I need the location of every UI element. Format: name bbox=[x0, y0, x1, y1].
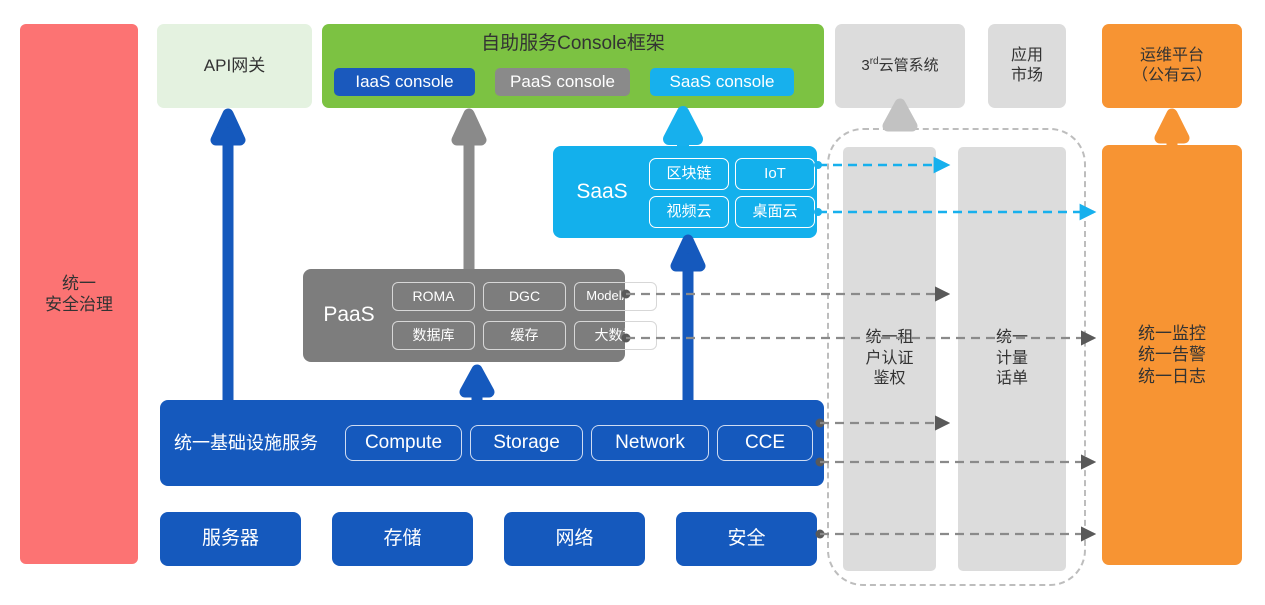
paas-service-modelarts-label: ModelArts bbox=[586, 288, 645, 304]
resource-box-network: 网络 bbox=[504, 512, 645, 566]
unified-metering-label: 统一 计量 话单 bbox=[996, 328, 1028, 390]
saas-layer-block: SaaS 区块链 IoT 视频云 桌面云 bbox=[553, 146, 817, 238]
resource-box-network-label: 网络 bbox=[555, 527, 593, 551]
paas-service-database-label: 数据库 bbox=[413, 327, 455, 345]
saas-service-desktop-cloud[interactable]: 桌面云 bbox=[735, 196, 815, 228]
resource-box-server: 服务器 bbox=[160, 512, 301, 566]
arrow-paas-to-console bbox=[457, 114, 481, 269]
architecture-diagram: 统一 安全治理 API网关 自助服务Console框架 IaaS console… bbox=[0, 0, 1265, 605]
resource-box-security-label: 安全 bbox=[727, 527, 765, 551]
paas-console-chip[interactable]: PaaS console bbox=[495, 68, 630, 96]
self-service-console-framework-block: 自助服务Console框架 IaaS console PaaS console … bbox=[322, 24, 824, 108]
paas-service-bigdata[interactable]: 大数据 bbox=[574, 321, 657, 350]
api-gateway-label: API网关 bbox=[204, 55, 265, 76]
saas-console-label: SaaS console bbox=[670, 71, 775, 92]
unified-tenant-auth-label: 统一租 户认证 鉴权 bbox=[865, 328, 913, 390]
paas-service-dgc-label: DGC bbox=[509, 288, 540, 306]
saas-service-video-cloud-label: 视频云 bbox=[666, 203, 711, 222]
ops-monitoring-stack-label: 统一监控 统一告警 统一日志 bbox=[1138, 323, 1206, 387]
paas-service-modelarts[interactable]: ModelArts bbox=[574, 282, 657, 311]
arrow-saas-to-console bbox=[669, 112, 697, 146]
unified-security-governance-block: 统一 安全治理 bbox=[20, 24, 138, 564]
arrow-infra-to-paas bbox=[465, 370, 489, 400]
paas-console-label: PaaS console bbox=[510, 71, 615, 92]
resource-box-security: 安全 bbox=[676, 512, 817, 566]
paas-service-roma[interactable]: ROMA bbox=[392, 282, 475, 311]
saas-service-iot-label: IoT bbox=[764, 165, 786, 184]
paas-service-roma-label: ROMA bbox=[413, 288, 455, 306]
paas-service-cache[interactable]: 缓存 bbox=[483, 321, 566, 350]
infra-service-storage[interactable]: Storage bbox=[470, 425, 583, 461]
paas-layer-block: PaaS ROMA DGC ModelArts 数据库 缓存 大数据 bbox=[303, 269, 625, 362]
arrow-infra-to-saas bbox=[676, 240, 700, 400]
saas-layer-label: SaaS bbox=[563, 146, 641, 238]
third-party-cloud-management-label: 3rd云管系统 bbox=[861, 56, 938, 76]
paas-layer-label: PaaS bbox=[311, 269, 387, 362]
app-market-block: 应用 市场 bbox=[988, 24, 1066, 108]
app-market-label: 应用 市场 bbox=[1011, 46, 1043, 86]
unified-tenant-auth-bar: 统一租 户认证 鉴权 bbox=[843, 147, 936, 571]
api-gateway-block: API网关 bbox=[157, 24, 312, 108]
saas-service-video-cloud[interactable]: 视频云 bbox=[649, 196, 729, 228]
third-party-superscript: rd bbox=[870, 56, 879, 67]
iaas-console-chip[interactable]: IaaS console bbox=[334, 68, 475, 96]
unified-security-governance-label: 统一 安全治理 bbox=[45, 273, 113, 316]
saas-service-iot[interactable]: IoT bbox=[735, 158, 815, 190]
infra-service-compute-label: Compute bbox=[365, 431, 442, 455]
arrow-infra-to-api-gateway bbox=[216, 114, 240, 400]
unified-metering-bar: 统一 计量 话单 bbox=[958, 147, 1066, 571]
paas-service-dgc[interactable]: DGC bbox=[483, 282, 566, 311]
console-framework-title: 自助服务Console框架 bbox=[322, 32, 824, 56]
third-party-prefix: 3 bbox=[861, 57, 869, 74]
arrow-ops-stack-to-platform bbox=[1160, 114, 1184, 145]
paas-service-database[interactable]: 数据库 bbox=[392, 321, 475, 350]
third-party-suffix: 云管系统 bbox=[879, 57, 939, 74]
resource-box-storage-label: 存储 bbox=[383, 527, 421, 551]
ops-platform-block: 运维平台 （公有云） bbox=[1102, 24, 1242, 108]
saas-service-blockchain[interactable]: 区块链 bbox=[649, 158, 729, 190]
iaas-console-label: IaaS console bbox=[355, 71, 453, 92]
infra-service-network[interactable]: Network bbox=[591, 425, 709, 461]
saas-service-desktop-cloud-label: 桌面云 bbox=[752, 203, 797, 222]
saas-service-blockchain-label: 区块链 bbox=[666, 165, 711, 184]
third-party-cloud-management-block: 3rd云管系统 bbox=[835, 24, 965, 108]
saas-console-chip[interactable]: SaaS console bbox=[650, 68, 794, 96]
paas-service-bigdata-label: 大数据 bbox=[595, 327, 637, 345]
resource-box-server-label: 服务器 bbox=[202, 527, 259, 551]
infra-service-cce[interactable]: CCE bbox=[717, 425, 813, 461]
infra-service-cce-label: CCE bbox=[745, 431, 785, 455]
paas-service-cache-label: 缓存 bbox=[511, 327, 539, 345]
unified-infrastructure-service-block: 统一基础设施服务 Compute Storage Network CCE bbox=[160, 400, 824, 486]
ops-platform-label: 运维平台 （公有云） bbox=[1132, 46, 1212, 86]
ops-monitoring-stack-block: 统一监控 统一告警 统一日志 bbox=[1102, 145, 1242, 565]
infra-service-compute[interactable]: Compute bbox=[345, 425, 462, 461]
resource-box-storage: 存储 bbox=[332, 512, 473, 566]
infra-service-network-label: Network bbox=[615, 431, 685, 455]
infra-service-storage-label: Storage bbox=[493, 431, 560, 455]
unified-infrastructure-service-label: 统一基础设施服务 bbox=[174, 400, 318, 486]
